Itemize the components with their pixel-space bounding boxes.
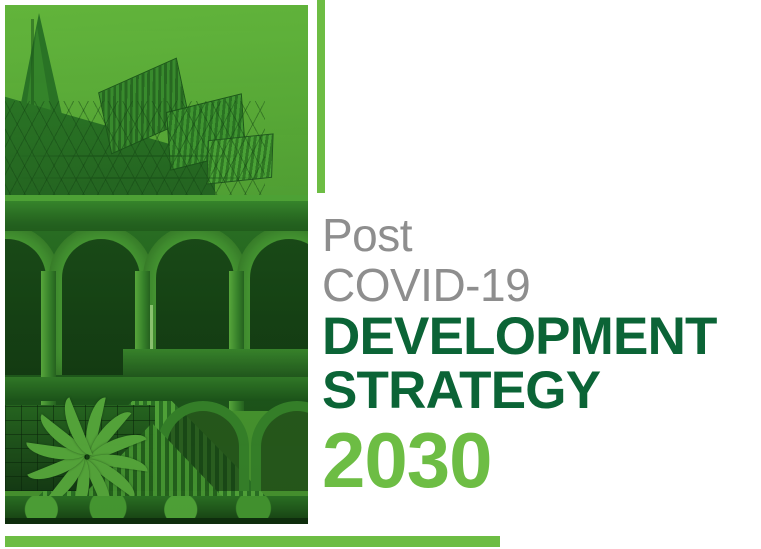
bottom-accent-bar [5,536,500,547]
vertical-accent-bar [317,0,325,193]
title-line-covid19: COVID-19 [322,260,742,310]
photo-deck-slab [5,201,308,235]
title-line-post: Post [322,210,742,260]
photo-lower-deck [5,377,308,401]
title-line-strategy: STRATEGY [322,364,742,418]
cover-page: Post COVID-19 DEVELOPMENT STRATEGY 2030 [0,0,761,549]
photo-lower-arch [251,401,308,491]
photo-truss-beam-1 [5,155,245,157]
photo-balcony [123,349,308,377]
page-title: Post COVID-19 DEVELOPMENT STRATEGY 2030 [322,210,742,500]
photo-artwork [5,5,308,524]
photo-ground [5,518,308,524]
title-line-development: DEVELOPMENT [322,310,742,364]
photo-palm-tree [33,409,153,501]
photo-pavilion [5,305,308,524]
title-line-year: 2030 [322,420,742,500]
cover-photo [5,5,308,524]
photo-truss-beam-2 [15,177,265,179]
